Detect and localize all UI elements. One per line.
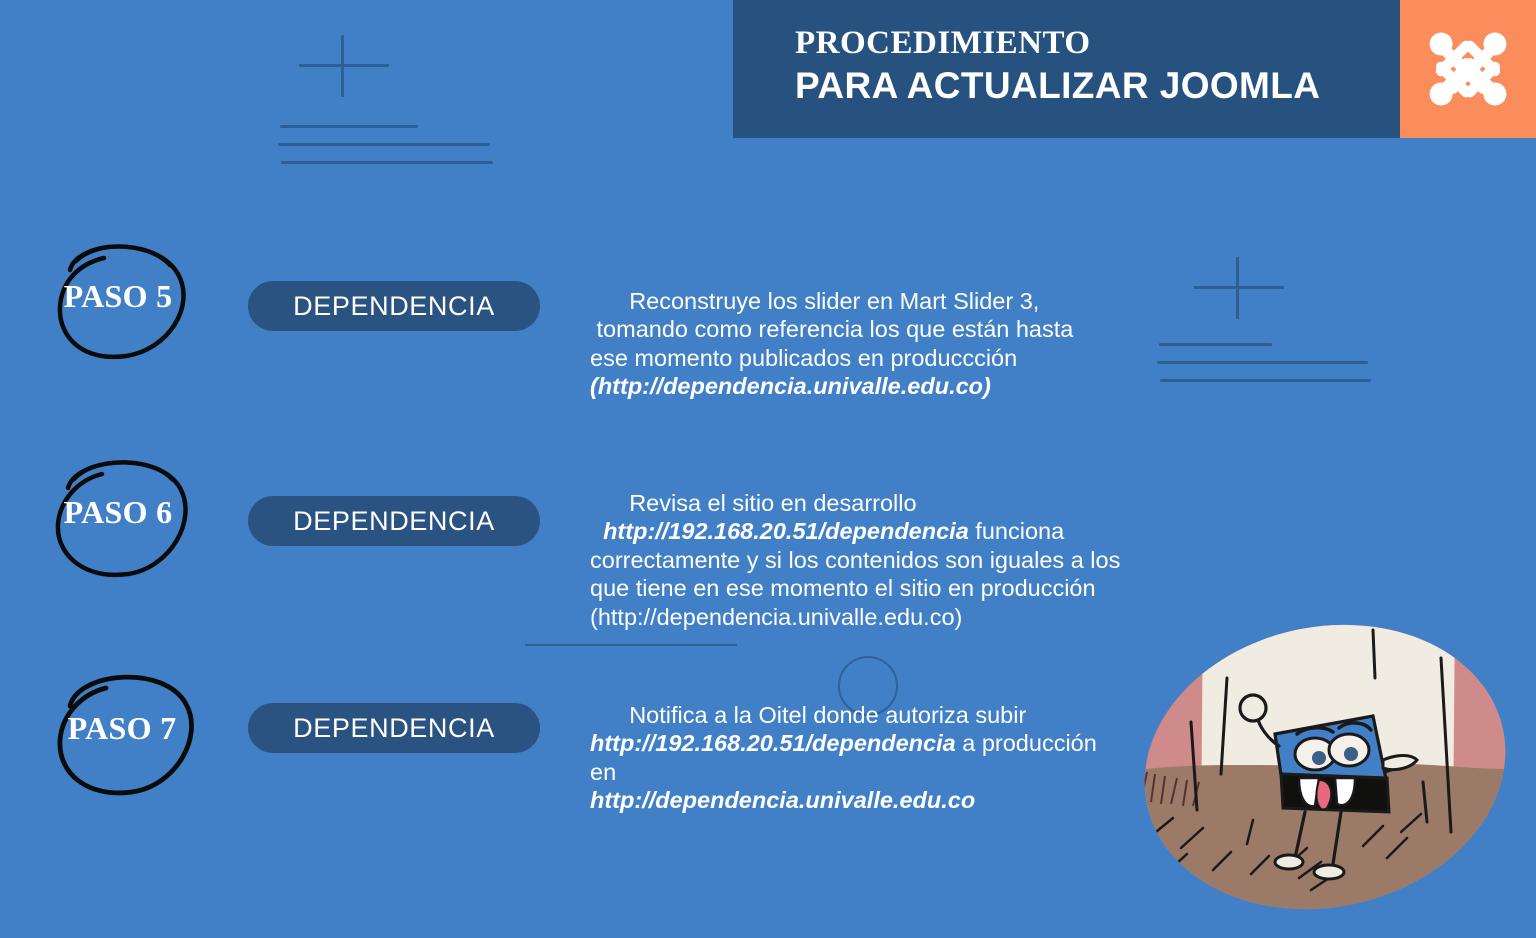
step-badge-label: PASO 6 bbox=[64, 494, 173, 531]
header-banner: PROCEDIMIENTO PARA ACTUALIZAR JOOMLA bbox=[733, 0, 1400, 138]
step-pill-7[interactable]: DEPENDENCIA bbox=[248, 703, 540, 753]
step-badge-label: PASO 5 bbox=[64, 278, 173, 315]
step-text-5: Reconstruye los slider en Mart Slider 3,… bbox=[590, 258, 1210, 429]
step-badge-6: PASO 6 bbox=[38, 446, 198, 578]
infographic-slide: PROCEDIMIENTO PARA ACTUALIZAR JOOMLA bbox=[0, 0, 1536, 938]
step-text-url: http://dependencia.univalle.edu.co bbox=[590, 787, 975, 813]
step-badge-label: PASO 7 bbox=[68, 710, 177, 747]
step-text-6: Revisa el sitio en desarrollo http://192… bbox=[590, 460, 1210, 660]
step-text-run: Notifica a la Oitel donde autoriza subir bbox=[629, 702, 1026, 728]
step-badge-7: PASO 7 bbox=[42, 662, 202, 794]
step-pill-6[interactable]: DEPENDENCIA bbox=[248, 496, 540, 546]
step-pill-5[interactable]: DEPENDENCIA bbox=[248, 281, 540, 331]
cartoon-illustration bbox=[1135, 622, 1515, 912]
step-badge-5: PASO 5 bbox=[38, 230, 198, 362]
joomla-logo-icon bbox=[1420, 21, 1516, 117]
page-title: PARA ACTUALIZAR JOOMLA bbox=[795, 64, 1400, 108]
step-text-7: Notifica a la Oitel donde autoriza subir… bbox=[590, 672, 1210, 843]
step-text-url: http://192.168.20.51/dependencia bbox=[603, 518, 969, 544]
step-text-url: (http://dependencia.univalle.edu.co) bbox=[590, 373, 991, 399]
step-text-url: http://192.168.20.51/dependencia bbox=[590, 730, 956, 756]
step-pill-label: DEPENDENCIA bbox=[293, 506, 495, 537]
joomla-logo-panel bbox=[1400, 0, 1536, 138]
deco-top-left-plus bbox=[299, 35, 389, 97]
step-pill-label: DEPENDENCIA bbox=[293, 713, 495, 744]
step-text-run: Reconstruye los slider en Mart Slider 3,… bbox=[590, 288, 1073, 371]
deco-top-left-lines bbox=[275, 125, 505, 170]
step-pill-label: DEPENDENCIA bbox=[293, 291, 495, 322]
header-kicker: PROCEDIMIENTO bbox=[795, 26, 1400, 62]
